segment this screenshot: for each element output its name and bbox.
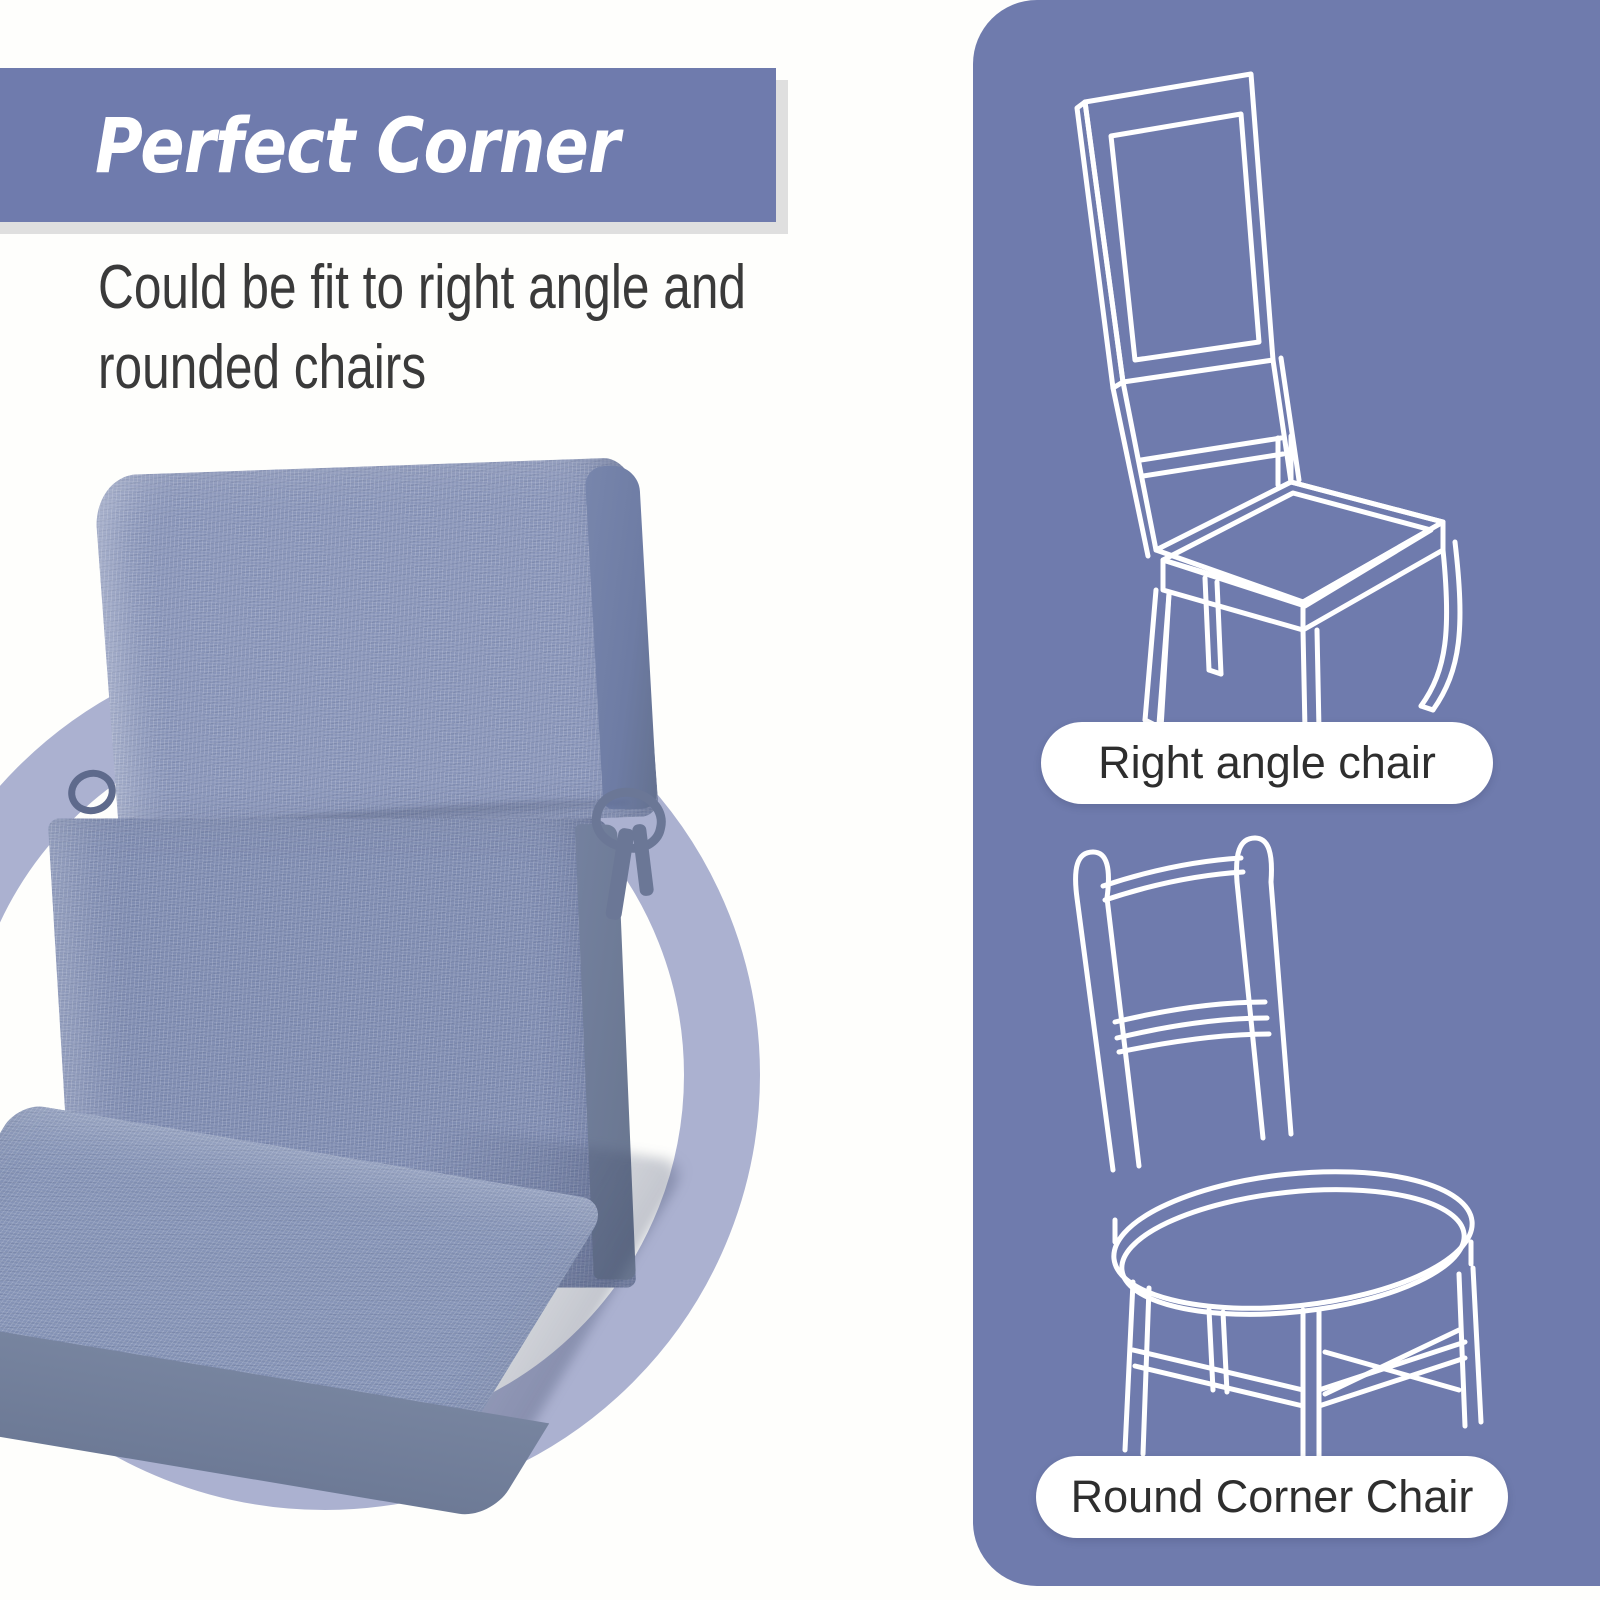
page-subtitle: Could be fit to right angle and rounded … xyxy=(98,248,770,408)
round-corner-chair-illustration xyxy=(973,790,1600,1480)
label-right-angle-chair: Right angle chair xyxy=(1041,722,1493,804)
product-photo-chair-cushion xyxy=(0,440,700,1560)
label-round-corner-chair: Round Corner Chair xyxy=(1036,1456,1508,1538)
page-title: Perfect Corner xyxy=(95,84,680,208)
right-angle-chair-illustration xyxy=(973,30,1600,730)
infographic-page: Perfect Corner Could be fit to right ang… xyxy=(0,0,1600,1600)
cushion-back-pillow-side xyxy=(584,465,657,809)
cushion-back-pillow xyxy=(93,457,659,835)
tie-strap-left-icon xyxy=(62,764,121,821)
